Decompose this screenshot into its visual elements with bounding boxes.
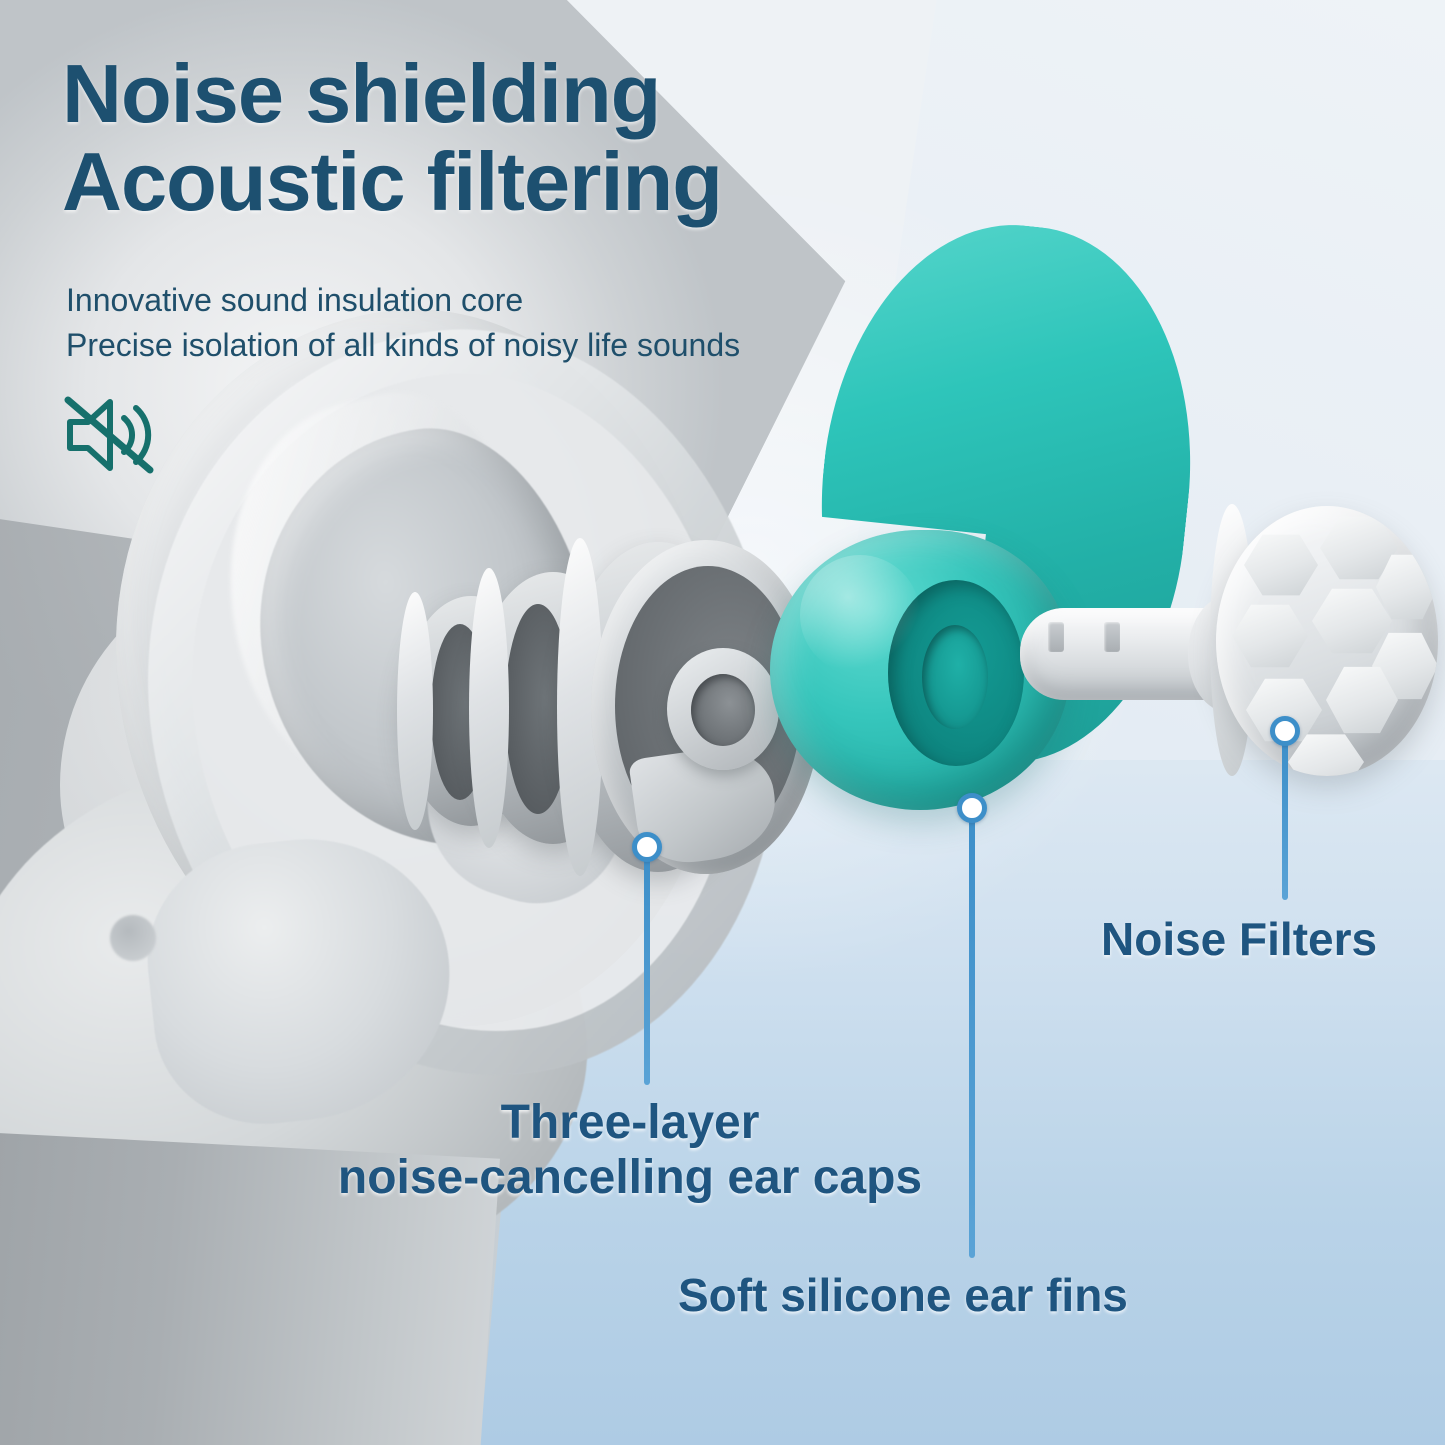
honeycomb-facet bbox=[1232, 602, 1308, 670]
subheadline-line1: Innovative sound insulation core bbox=[66, 278, 926, 323]
headline-line1: Noise shielding bbox=[62, 50, 942, 138]
ear-cap-bore bbox=[691, 674, 755, 746]
headline-line2: Acoustic filtering bbox=[62, 138, 942, 226]
ear-canal-shadow bbox=[110, 915, 156, 961]
ear-cap-lip-1 bbox=[397, 592, 433, 830]
ear-fin-bore bbox=[922, 625, 988, 729]
noise-filter-part bbox=[1020, 500, 1440, 780]
page-title: Noise shielding Acoustic filtering bbox=[62, 50, 942, 226]
subheadline-line2: Precise isolation of all kinds of noisy … bbox=[66, 323, 926, 368]
callout-leader-line bbox=[969, 818, 975, 1258]
three-layer-ear-caps bbox=[395, 520, 835, 920]
product-infographic: Three-layer noise-cancelling ear caps So… bbox=[0, 0, 1445, 1445]
callout-leader-line bbox=[1282, 740, 1288, 900]
page-subtitle: Innovative sound insulation core Precise… bbox=[66, 278, 926, 369]
callout-dot-noise-filters[interactable] bbox=[1270, 716, 1300, 746]
label-ear-fins: Soft silicone ear fins bbox=[678, 1268, 1128, 1322]
label-noise-filters: Noise Filters bbox=[1101, 912, 1377, 966]
mute-speaker-icon bbox=[60, 390, 156, 480]
honeycomb-facet bbox=[1244, 532, 1318, 598]
label-ear-caps: Three-layer noise-cancelling ear caps bbox=[290, 1096, 970, 1205]
callout-leader-line bbox=[644, 855, 650, 1085]
noise-filter-notch bbox=[1104, 622, 1120, 652]
callout-dot-ear-caps[interactable] bbox=[632, 832, 662, 862]
honeycomb-facet bbox=[1312, 586, 1392, 656]
label-ear-caps-line1: Three-layer bbox=[501, 1096, 760, 1149]
ear-fin-highlight bbox=[800, 555, 920, 675]
label-ear-caps-line2: noise-cancelling ear caps bbox=[338, 1151, 922, 1204]
callout-dot-ear-fins[interactable] bbox=[957, 793, 987, 823]
noise-filter-notch bbox=[1048, 622, 1064, 652]
noise-filter-head bbox=[1216, 506, 1438, 776]
ear-cap-lip-2 bbox=[469, 568, 509, 848]
